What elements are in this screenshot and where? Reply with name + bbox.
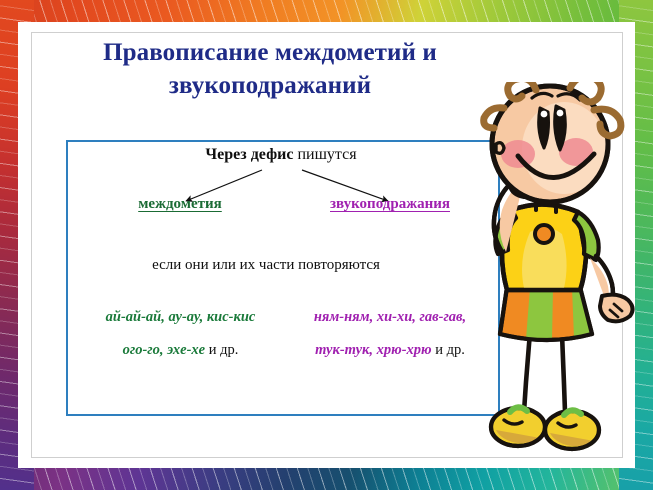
page-title: Правописание междометий и звукоподражани… bbox=[40, 36, 500, 102]
category-label-onomatopoeia: звукоподражания bbox=[310, 196, 470, 213]
rule-lead-rest: пишутся bbox=[293, 146, 356, 163]
example-plain: и др. bbox=[205, 342, 238, 358]
example-interjections-row-1: ай-ай-ай, ау-ау, кис-кис bbox=[78, 309, 283, 326]
rule-lead-text: Через дефис пишутся bbox=[66, 146, 496, 164]
example-italic: ням-ням, хи-хи, гав-гав, bbox=[314, 309, 466, 325]
example-italic: тук-тук, хрю-хрю bbox=[315, 342, 431, 358]
example-italic: ай-ай-ай, ау-ау, кис-кис bbox=[106, 309, 256, 325]
thinking-girl-illustration bbox=[452, 82, 642, 454]
example-interjections-row-2: ого-го, эхе-хе и др. bbox=[78, 342, 283, 359]
slide: Правописание междометий и звукоподражани… bbox=[0, 0, 653, 490]
page-title-line-1: Правописание междометий и bbox=[103, 39, 437, 66]
category-label-interjections: междометия bbox=[120, 196, 240, 213]
example-italic: ого-го, эхе-хе bbox=[123, 342, 205, 358]
rule-condition-text: если они или их части повторяются bbox=[66, 257, 466, 274]
page-title-line-2: звукоподражаний bbox=[40, 69, 500, 102]
rule-lead-bold: Через дефис bbox=[205, 146, 293, 163]
